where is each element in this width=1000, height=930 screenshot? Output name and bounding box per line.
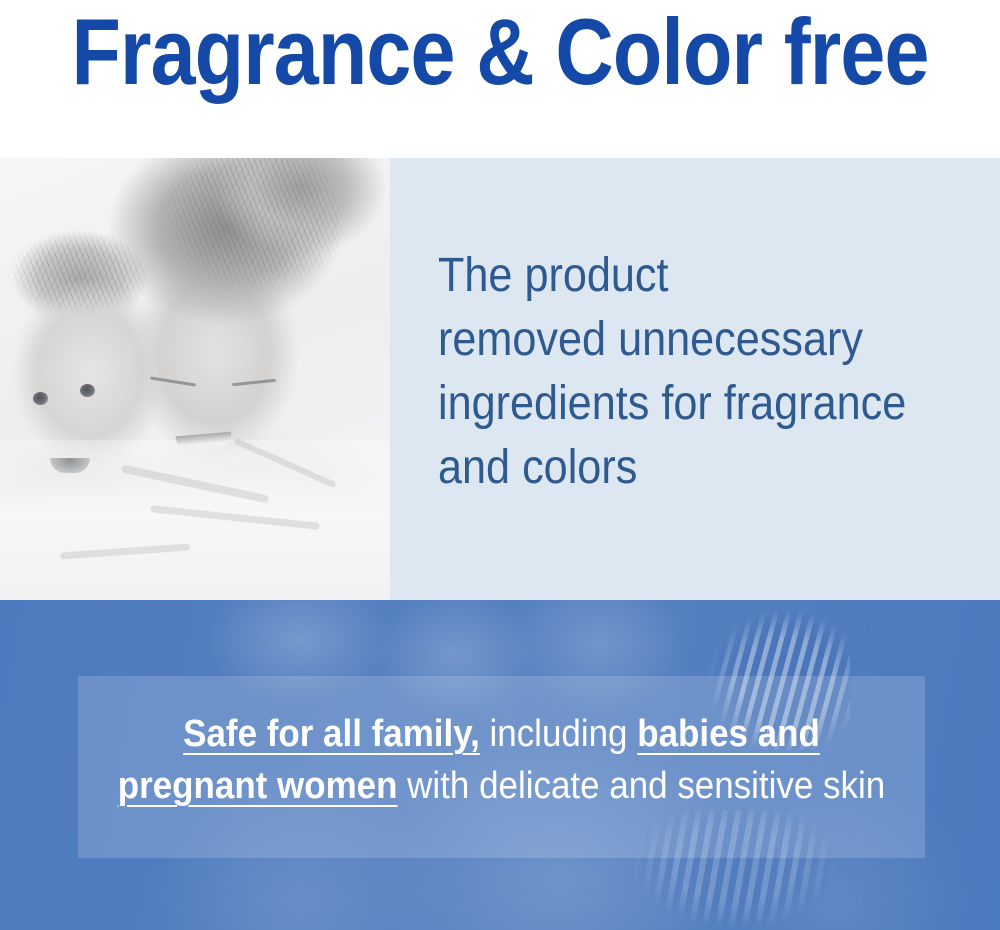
page-title: Fragrance & Color free [70, 2, 930, 102]
product-copy-line-2: removed unnecessary [438, 308, 929, 372]
claim-emphasis-family: Safe for all family, [183, 713, 480, 755]
middle-section: The product removed unnecessary ingredie… [0, 158, 1000, 600]
family-photo-left [0, 158, 390, 600]
safety-claim-section: Safe for all family, including babies an… [0, 600, 1000, 930]
product-copy-line-3: ingredients for fragrance [438, 372, 929, 436]
product-copy-pane: The product removed unnecessary ingredie… [390, 158, 1000, 600]
safety-claim-line-2: pregnant women with delicate and sensiti… [112, 760, 891, 812]
safety-claim-line-1: Safe for all family, including babies an… [112, 708, 891, 760]
headline-section: Fragrance & Color free [0, 0, 1000, 158]
fabric-fold [121, 464, 269, 503]
fabric-fold [234, 438, 337, 488]
product-copy-line-4: and colors [438, 436, 929, 500]
claim-emphasis-pregnant: pregnant women [118, 765, 398, 807]
product-copy-line-1: The product [438, 244, 929, 308]
baby-left-eye [33, 392, 48, 405]
product-copy-block: The product removed unnecessary ingredie… [438, 244, 929, 500]
fabric-fold [60, 543, 190, 559]
claim-overlay-box: Safe for all family, including babies an… [78, 676, 925, 858]
claim-plain-including: including [480, 713, 637, 755]
fabric-fold [150, 505, 320, 530]
product-feature-banner: Fragrance & Color free The product remov… [0, 0, 1000, 930]
baby-right-eye [80, 384, 95, 397]
claim-emphasis-babies: babies and [637, 713, 820, 755]
claim-plain-skin: with delicate and sensitive skin [397, 765, 885, 807]
safety-claim-text: Safe for all family, including babies an… [112, 708, 891, 812]
